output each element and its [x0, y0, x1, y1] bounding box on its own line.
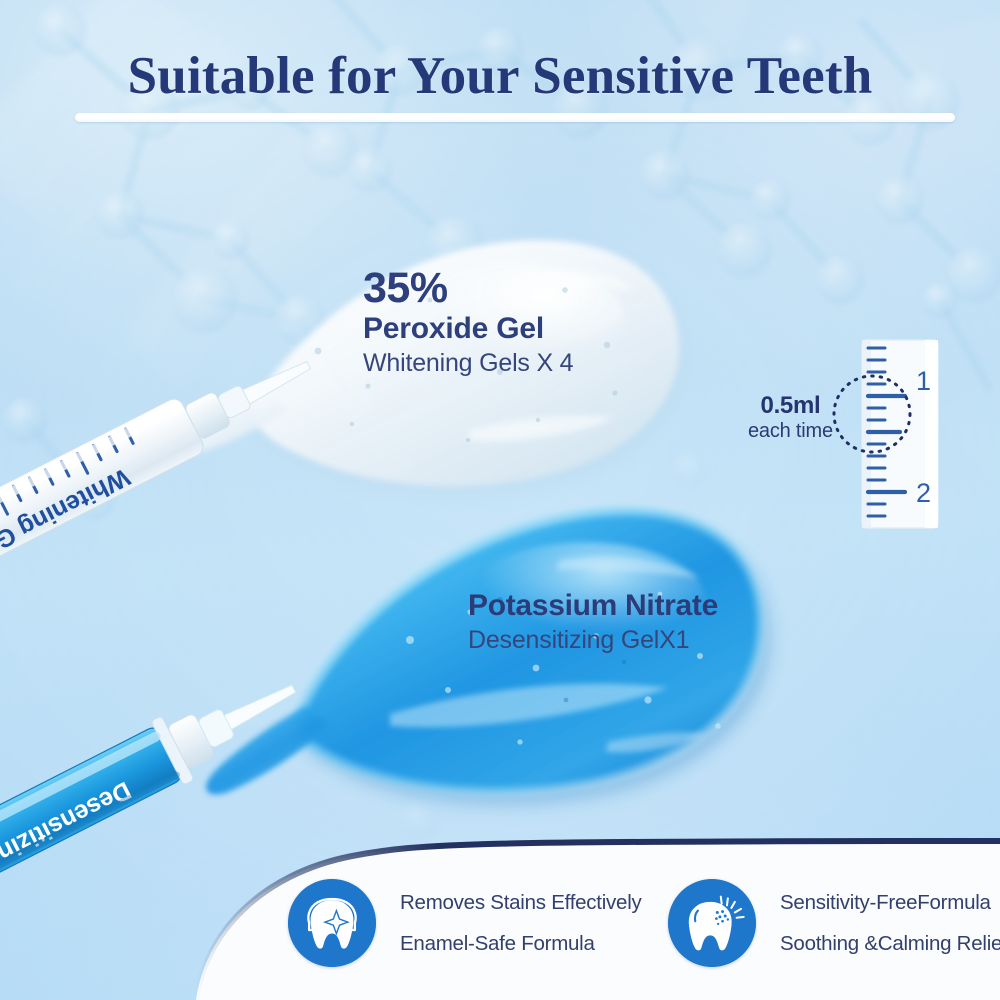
peroxide-percent: 35%	[363, 265, 573, 311]
dose-frequency: each time	[748, 419, 833, 444]
feature-item-stains: Removes Stains Effectively Enamel-Safe F…	[288, 879, 642, 967]
peroxide-quantity: Whitening Gels X 4	[363, 347, 573, 380]
whitening-gel-callout: 35% Peroxide Gel Whitening Gels X 4	[363, 265, 573, 380]
dose-amount: 0.5ml	[748, 392, 833, 419]
ruler-mark-2: 2	[916, 478, 931, 508]
feature-line: Soothing &Calming Relief	[780, 923, 1000, 964]
infographic-canvas: Suitable for Your Sensitive Teeth	[0, 0, 1000, 1000]
desensitizing-quantity: Desensitizing GelX1	[468, 624, 718, 657]
feature-line: Removes Stains Effectively	[400, 882, 642, 923]
feature-stains-text: Removes Stains Effectively Enamel-Safe F…	[400, 882, 642, 964]
feature-line: Enamel-Safe Formula	[400, 923, 642, 964]
peroxide-name: Peroxide Gel	[363, 311, 573, 347]
desensitizing-gel-callout: Potassium Nitrate Desensitizing GelX1	[468, 587, 718, 657]
tooth-sensitive-icon	[668, 879, 756, 967]
ruler-mark-1: 1	[916, 366, 931, 396]
tooth-sparkle-icon	[288, 879, 376, 967]
desensitizing-gel-blob	[206, 511, 769, 804]
feature-line: Sensitivity-FreeFormula	[780, 882, 1000, 923]
dose-measurement-barrel: 1 2	[834, 340, 938, 528]
dose-callout: 0.5ml each time	[748, 392, 833, 444]
feature-sensitivity-text: Sensitivity-FreeFormula Soothing &Calmin…	[780, 882, 1000, 964]
potassium-nitrate-name: Potassium Nitrate	[468, 587, 718, 624]
feature-item-sensitivity: Sensitivity-FreeFormula Soothing &Calmin…	[668, 879, 1000, 967]
